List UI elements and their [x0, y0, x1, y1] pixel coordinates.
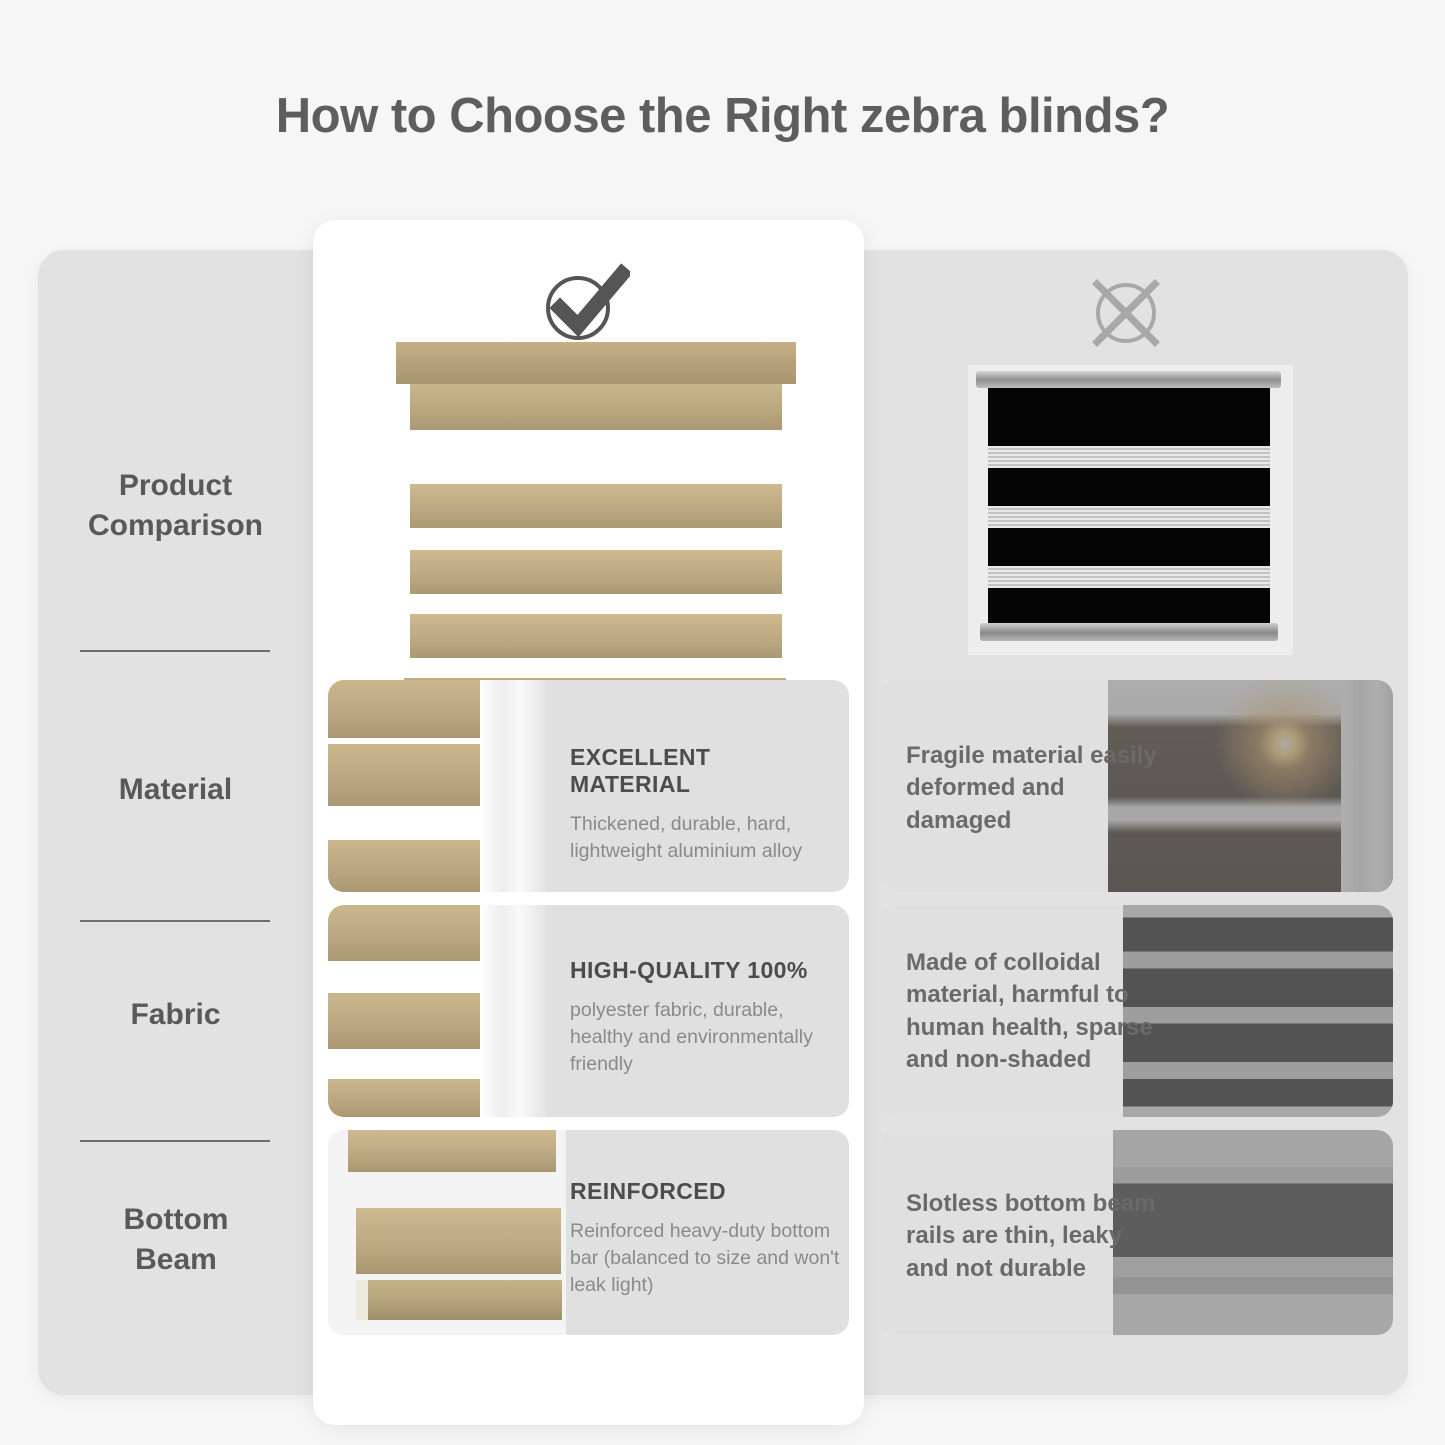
feature-card-good-fabric: HIGH-QUALITY 100% polyester fabric, dura…	[328, 905, 849, 1117]
feature-card-bad-fabric: Made of colloidal material, harmful to h…	[880, 905, 1393, 1117]
blind-bottom-bar	[980, 623, 1278, 641]
blind-headrail	[976, 371, 1281, 388]
feature-card-bad-bottom-beam: Slotless bottom beam rails are thin, lea…	[880, 1130, 1393, 1335]
window-frame	[480, 680, 546, 892]
blind-gap	[328, 961, 480, 993]
bottom-bar	[362, 1280, 562, 1320]
blind-slat	[328, 905, 480, 961]
feature-card-good-bottom-beam: REINFORCED Reinforced heavy-duty bottom …	[328, 1130, 849, 1335]
row-label-fabric: Fabric	[38, 975, 313, 1055]
beige-blind-fabric-image	[328, 905, 546, 1117]
row-label-material: Material	[38, 750, 313, 830]
blind-slat	[356, 1208, 561, 1274]
x-circle-icon	[1085, 272, 1167, 354]
label-divider-2	[80, 920, 270, 922]
feature-text: Fragile material easily deformed and dam…	[906, 740, 1166, 837]
feature-text: Slotless bottom beam rails are thin, lea…	[906, 1188, 1164, 1285]
blind-slat	[348, 1130, 556, 1172]
comparison-infographic: How to Choose the Right zebra blinds? Pr…	[0, 0, 1445, 1445]
feature-body: polyester fabric, durable, healthy and e…	[570, 997, 838, 1078]
blind-mesh-stripe	[988, 446, 1270, 468]
label-divider-1	[80, 650, 270, 652]
feature-body: Thickened, durable, hard, lightweight al…	[570, 811, 832, 865]
blind-slat	[328, 680, 480, 738]
check-circle-icon	[538, 258, 630, 344]
bottom-bar-end-cap	[356, 1280, 368, 1320]
feature-card-good-material: EXCELLENT MATERIAL Thickened, durable, h…	[328, 680, 849, 892]
blind-slat	[328, 993, 480, 1049]
blind-slat	[410, 484, 782, 528]
feature-text: Made of colloidal material, harmful to h…	[906, 947, 1168, 1077]
blind-gap	[328, 806, 480, 840]
page-title: How to Choose the Right zebra blinds?	[0, 88, 1445, 144]
blind-slat	[410, 614, 782, 658]
bottom-beam-image	[328, 1130, 566, 1335]
feature-body: Reinforced heavy-duty bottom bar (balanc…	[570, 1218, 840, 1299]
feature-heading: EXCELLENT MATERIAL	[570, 744, 832, 798]
beige-blind-window-image	[328, 680, 546, 892]
blind-slat	[328, 744, 480, 806]
blind-top-slat	[410, 384, 782, 430]
row-label-bottom-beam: Bottom Beam	[86, 1180, 266, 1300]
feature-heading: REINFORCED	[570, 1178, 840, 1205]
row-label-column: Product Comparison Material Fabric Botto…	[38, 250, 313, 1395]
blind-mesh-stripe	[988, 566, 1270, 588]
row-label-product-comparison: Product Comparison	[38, 436, 313, 576]
feature-card-bad-material: Fragile material easily deformed and dam…	[880, 680, 1393, 892]
blind-mesh-stripe	[988, 506, 1270, 528]
blind-headrail	[396, 342, 796, 384]
window-frame	[480, 905, 546, 1117]
hero-black-blind-image	[968, 365, 1293, 655]
blind-body	[988, 388, 1270, 623]
blind-gap	[328, 1049, 480, 1079]
hero-beige-blind-image	[384, 342, 798, 664]
feature-heading: HIGH-QUALITY 100%	[570, 957, 838, 984]
label-divider-3	[80, 1140, 270, 1142]
blind-slat	[328, 840, 480, 892]
blind-slat	[328, 1079, 480, 1117]
blind-slat	[410, 550, 782, 594]
